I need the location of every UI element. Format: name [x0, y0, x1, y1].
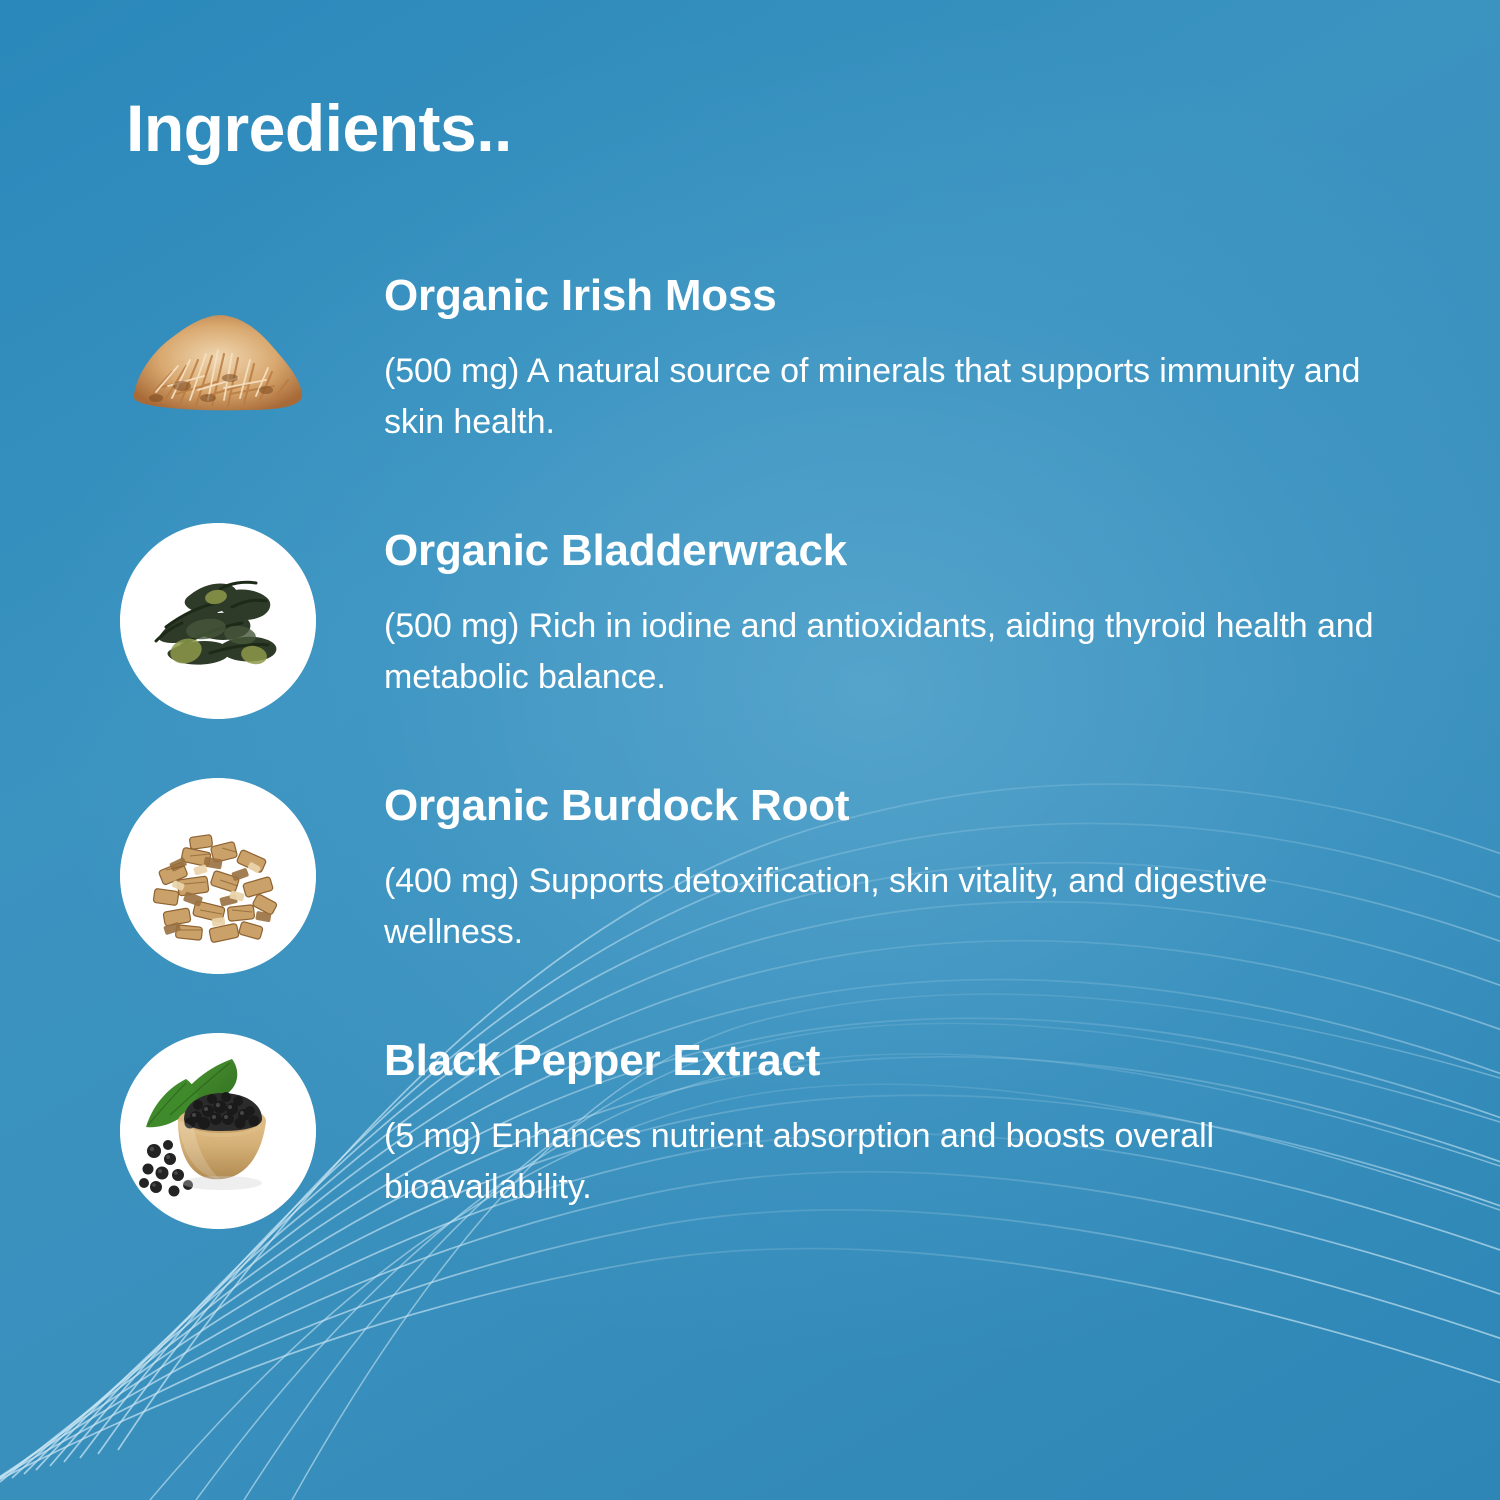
ingredient-name: Organic Irish Moss	[384, 272, 1414, 320]
ingredient-row: Black Pepper Extract (5 mg) Enhances nut…	[0, 1033, 1500, 1229]
ingredient-text: Organic Burdock Root (400 mg) Supports d…	[384, 778, 1414, 957]
ingredient-row: Organic Irish Moss (500 mg) A natural so…	[0, 268, 1500, 464]
ingredient-row: Organic Bladderwrack (500 mg) Rich in io…	[0, 523, 1500, 719]
page-title: Ingredients..	[126, 94, 512, 163]
ingredient-name: Organic Bladderwrack	[384, 527, 1414, 575]
ingredient-text: Organic Irish Moss (500 mg) A natural so…	[384, 268, 1414, 447]
ingredient-description: (5 mg) Enhances nutrient absorption and …	[384, 1111, 1414, 1212]
ingredient-name: Black Pepper Extract	[384, 1037, 1414, 1085]
ingredient-text: Organic Bladderwrack (500 mg) Rich in io…	[384, 523, 1414, 702]
ingredient-image-black-pepper	[120, 1033, 316, 1229]
ingredient-image-irish-moss	[120, 268, 316, 464]
ingredient-description: (500 mg) Rich in iodine and antioxidants…	[384, 601, 1414, 702]
ingredient-description: (500 mg) A natural source of minerals th…	[384, 346, 1414, 447]
ingredient-image-burdock-root	[120, 778, 316, 974]
wave-pattern-decoration	[0, 0, 1500, 1500]
ingredient-description: (400 mg) Supports detoxification, skin v…	[384, 856, 1414, 957]
ingredient-name: Organic Burdock Root	[384, 782, 1414, 830]
ingredient-text: Black Pepper Extract (5 mg) Enhances nut…	[384, 1033, 1414, 1212]
ingredient-row: Organic Burdock Root (400 mg) Supports d…	[0, 778, 1500, 974]
ingredients-panel: Ingredients..	[0, 0, 1500, 1500]
ingredient-image-bladderwrack	[120, 523, 316, 719]
